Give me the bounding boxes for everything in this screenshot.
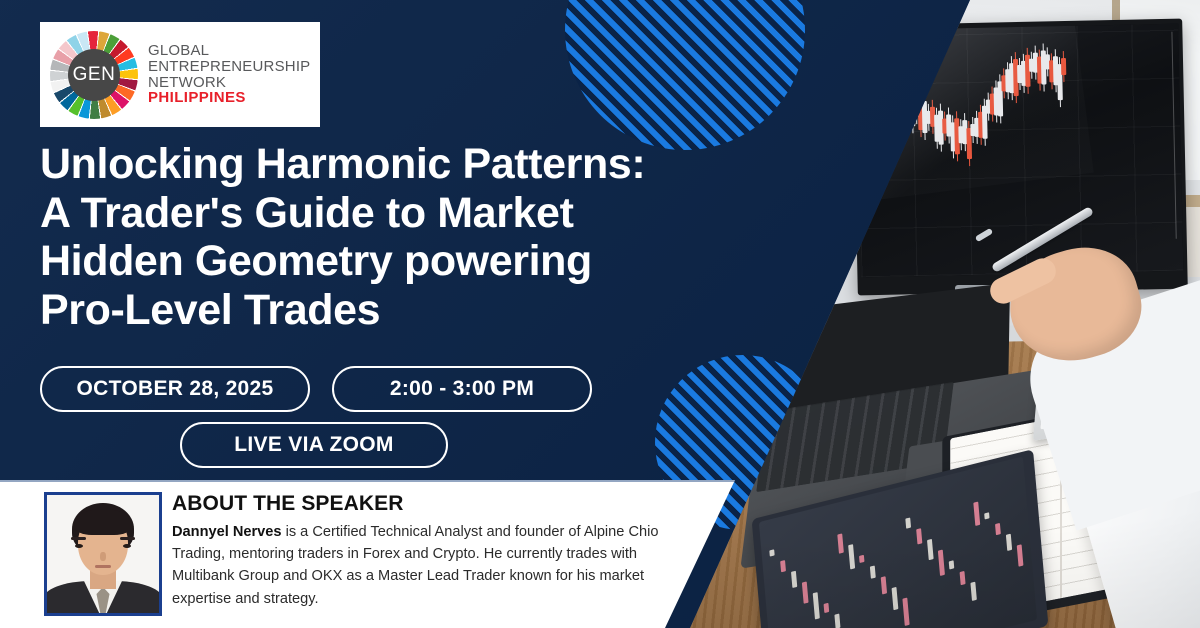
logo-line-philippines: PHILIPPINES	[148, 90, 310, 106]
speaker-info: ABOUT THE SPEAKER Dannyel Nerves is a Ce…	[172, 492, 682, 610]
avatar-eye-right	[123, 544, 131, 548]
event-time-pill: 2:00 - 3:00 PM	[332, 366, 592, 412]
logo-line-entrepreneurship: ENTREPRENEURSHIP	[148, 59, 310, 75]
event-banner: GEN GLOBAL ENTREPRENEURSHIP NETWORK PHIL…	[0, 0, 1200, 628]
logo-line-network: NETWORK	[148, 75, 310, 91]
event-details-row: OCTOBER 28, 2025 2:00 - 3:00 PM	[40, 366, 592, 412]
speaker-bar-divider	[0, 480, 735, 482]
gen-color-wheel-icon: GEN	[50, 31, 138, 119]
avatar-mouth	[95, 565, 111, 568]
title-line-3: Hidden Geometry powering	[40, 237, 760, 286]
gen-hub-label: GEN	[73, 64, 116, 86]
about-speaker-bio: Dannyel Nerves is a Certified Technical …	[172, 521, 682, 610]
avatar-brow-left	[71, 537, 86, 540]
avatar-eye-left	[75, 544, 83, 548]
logo-line-global: GLOBAL	[148, 43, 310, 59]
logo-wordmark: GLOBAL ENTREPRENEURSHIP NETWORK PHILIPPI…	[148, 43, 310, 105]
event-title: Unlocking Harmonic Patterns: A Trader's …	[40, 140, 760, 334]
gen-philippines-logo: GEN GLOBAL ENTREPRENEURSHIP NETWORK PHIL…	[40, 22, 320, 127]
avatar-nose	[100, 552, 106, 561]
title-line-4: Pro-Level Trades	[40, 286, 760, 335]
about-speaker-heading: ABOUT THE SPEAKER	[172, 492, 682, 516]
speaker-avatar	[44, 492, 162, 616]
gen-hub: GEN	[68, 49, 120, 101]
title-line-1: Unlocking Harmonic Patterns:	[40, 140, 760, 189]
event-date-pill: OCTOBER 28, 2025	[40, 366, 310, 412]
speaker-name: Dannyel Nerves	[172, 524, 282, 540]
event-venue-row: LIVE VIA ZOOM	[180, 422, 448, 468]
avatar-brow-right	[120, 537, 135, 540]
avatar-hair-front	[75, 509, 131, 535]
event-venue-pill: LIVE VIA ZOOM	[180, 422, 448, 468]
title-line-2: A Trader's Guide to Market	[40, 189, 760, 238]
